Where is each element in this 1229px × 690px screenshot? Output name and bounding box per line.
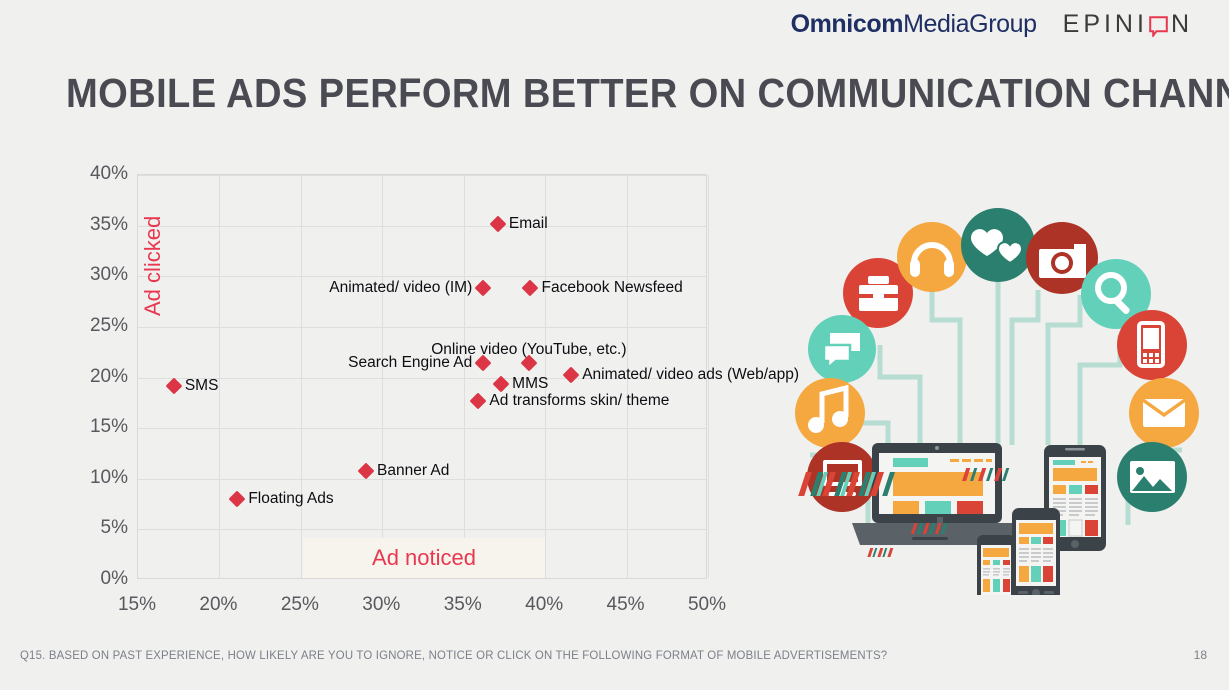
diamond-marker-icon <box>358 462 375 479</box>
diamond-marker-icon <box>522 280 539 297</box>
picture-icon <box>1117 442 1187 512</box>
gridline-horizontal <box>138 175 706 176</box>
data-point-label: Facebook Newsfeed <box>541 279 682 297</box>
slide: OmnicomMediaGroup EPINI N MOBILE ADS PER… <box>0 0 1229 690</box>
y-axis-tick: 40% <box>90 163 128 185</box>
gridline-vertical <box>219 175 220 578</box>
omnicom-media-group-logo: OmnicomMediaGroup <box>791 10 1037 39</box>
gridline-horizontal <box>138 327 706 328</box>
x-axis-tick: 20% <box>199 594 237 616</box>
omnicom-logo-regular: MediaGroup <box>903 10 1037 38</box>
data-point-label: Floating Ads <box>248 490 333 508</box>
page-number: 18 <box>1194 648 1207 662</box>
epinion-logo-text-part2: N <box>1171 10 1193 39</box>
x-axis-tick: 40% <box>525 594 563 616</box>
mobile-phone-icon <box>1117 310 1187 380</box>
epinion-logo: EPINI N <box>1063 10 1193 39</box>
diamond-marker-icon <box>475 280 492 297</box>
hearts-icon <box>961 208 1035 282</box>
x-axis-tick: 50% <box>688 594 726 616</box>
x-axis-tick: 45% <box>607 594 645 616</box>
envelope-icon <box>1129 378 1199 448</box>
speech-bubble-icon <box>1149 14 1168 35</box>
x-axis-tick: 25% <box>281 594 319 616</box>
diamond-marker-icon <box>229 491 246 508</box>
x-axis-title: Ad noticed <box>303 538 545 578</box>
footer-question: Q15. BASED ON PAST EXPERIENCE, HOW LIKEL… <box>20 648 887 662</box>
logo-bar: OmnicomMediaGroup EPINI N <box>791 10 1193 39</box>
x-axis-tick-labels: 15%20%25%30%35%40%45%50% <box>0 594 780 624</box>
y-axis-tick-labels: 0%5%10%15%20%25%30%35%40% <box>66 0 128 640</box>
plot-area: EmailFacebook NewsfeedAnimated/ video (I… <box>137 174 707 579</box>
data-point-label: SMS <box>185 377 219 395</box>
diamond-marker-icon <box>165 377 182 394</box>
x-axis-tick: 30% <box>362 594 400 616</box>
x-axis-tick: 35% <box>444 594 482 616</box>
y-axis-tick: 25% <box>90 315 128 337</box>
y-axis-tick: 20% <box>90 366 128 388</box>
diamond-marker-icon <box>563 367 580 384</box>
gridline-horizontal <box>138 276 706 277</box>
data-point-label: Search Engine Ad <box>348 354 472 372</box>
y-axis-tick: 0% <box>101 568 128 590</box>
data-point-label: Animated/ video ads (Web/app) <box>582 366 799 384</box>
gridline-vertical <box>301 175 302 578</box>
music-note-icon <box>795 378 865 448</box>
gridline-horizontal <box>138 226 706 227</box>
y-axis-tick: 10% <box>90 467 128 489</box>
y-axis-tick: 30% <box>90 264 128 286</box>
gridline-horizontal <box>138 529 706 530</box>
y-axis-tick: 15% <box>90 416 128 438</box>
data-point-label: Banner Ad <box>377 462 449 480</box>
scatter-chart: EmailFacebook NewsfeedAnimated/ video (I… <box>0 0 780 640</box>
x-axis-tick: 15% <box>118 594 156 616</box>
y-axis-title: Ad clicked <box>140 216 166 316</box>
data-point-label: Email <box>509 215 548 233</box>
gridline-vertical <box>382 175 383 578</box>
epinion-logo-text-part1: EPINI <box>1063 10 1148 39</box>
diamond-marker-icon <box>489 215 506 232</box>
chat-icon <box>808 315 876 383</box>
devices-illustration <box>780 195 1220 595</box>
gridline-vertical <box>464 175 465 578</box>
diamond-marker-icon <box>470 392 487 409</box>
data-point-label: Animated/ video (IM) <box>329 279 472 297</box>
gridline-horizontal <box>138 428 706 429</box>
y-axis-tick: 5% <box>101 517 128 539</box>
headphones-icon <box>897 222 967 292</box>
data-point-label: MMS <box>512 375 548 393</box>
y-axis-tick: 35% <box>90 214 128 236</box>
omnicom-logo-bold: Omnicom <box>791 10 904 38</box>
data-point-label: Ad transforms skin/ theme <box>489 392 669 410</box>
